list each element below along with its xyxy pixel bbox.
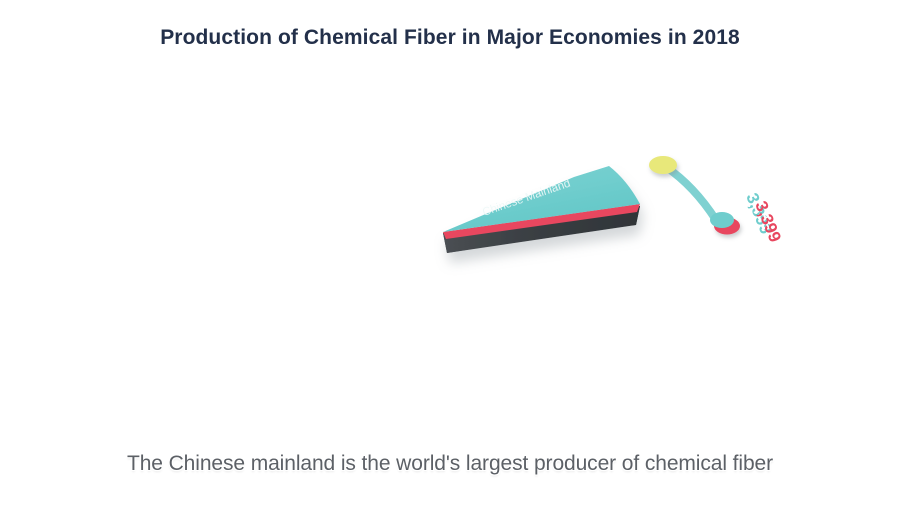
slice-front-face xyxy=(443,206,640,253)
caption-text: The Chinese mainland is the world's larg… xyxy=(127,452,773,476)
leader-line xyxy=(666,167,716,220)
pink-dot-icon xyxy=(714,218,740,235)
pie-slice-chinese-mainland[interactable]: Chinese Mainland xyxy=(443,166,640,253)
value-label-pink-layer: 3,399 xyxy=(751,198,785,245)
slide-canvas: Production of Chemical Fiber in Major Ec… xyxy=(0,0,900,506)
pie-chart: Chinese Mainland 3,399 3,399 3,399 xyxy=(0,0,900,506)
yellow-dot-icon[interactable] xyxy=(649,156,677,174)
slice-side-wall xyxy=(443,206,640,253)
value-label-group: 3,399 3,399 3,399 xyxy=(742,190,785,245)
page-title: Production of Chemical Fiber in Major Ec… xyxy=(0,26,900,50)
slice-rim xyxy=(443,204,640,239)
value-label-teal-layer: 3,399 xyxy=(742,190,776,237)
slice-label: Chinese Mainland xyxy=(481,178,572,219)
slice-top-face xyxy=(443,166,640,232)
value-leader-group xyxy=(649,156,740,235)
caption-bar: The Chinese mainland is the world's larg… xyxy=(0,452,900,492)
teal-dot-icon xyxy=(710,212,734,228)
value-label-white-layer: 3,399 xyxy=(748,195,782,242)
